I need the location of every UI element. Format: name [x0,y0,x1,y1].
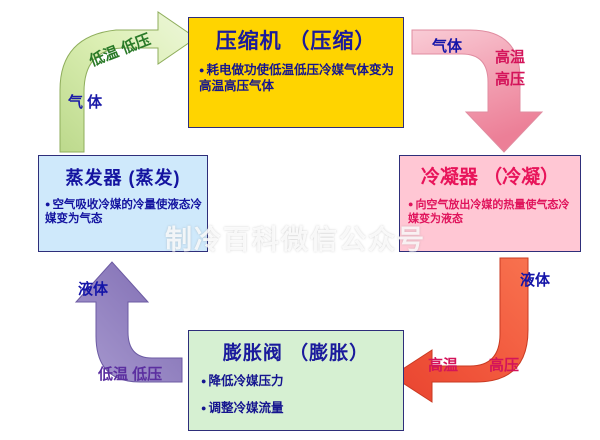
node-evaporator[interactable]: 蒸发器 (蒸发) 空气吸收冷媒的冷量使液态冷媒变为气态 [38,155,208,252]
compressor-title: 压缩机 （压缩） [189,25,403,55]
condenser-bullets: 向空气放出冷媒的热量使气态冷媒变为液态 [400,199,580,227]
expansion-bullets: 降低冷媒压力 调整冷媒流量 [189,374,403,416]
condenser-title: 冷凝器 （冷凝） [400,162,580,189]
evaporator-title: 蒸发器 (蒸发) [39,164,207,190]
evaporator-bullets: 空气吸收冷媒的冷量使液态冷媒变为气态 [39,198,207,227]
expansion-title: 膨胀阀 （膨胀） [189,338,403,365]
condenser-bullet-1: 向空气放出冷媒的热量使气态冷媒变为液态 [408,199,580,227]
node-expansion-valve[interactable]: 膨胀阀 （膨胀） 降低冷媒压力 调整冷媒流量 [188,330,404,431]
label-gas-left: 气 体 [68,94,102,111]
node-condenser[interactable]: 冷凝器 （冷凝） 向空气放出冷媒的热量使气态冷媒变为液态 [399,155,581,252]
arrow-liquid-to-expansion [392,258,528,402]
expansion-bullet-1: 降低冷媒压力 [201,374,403,390]
compressor-bullet-1: 耗电做功使低温低压冷媒气体变为高温高压气体 [199,63,403,94]
diagram-canvas: 压缩机 （压缩） 耗电做功使低温低压冷媒气体变为高温高压气体 冷凝器 （冷凝） … [0,0,600,440]
evaporator-bullet-1: 空气吸收冷媒的冷量使液态冷媒变为气态 [45,198,207,227]
arrow-gas-to-compressor [60,12,196,152]
label-high-pressure-right: 高压 [489,357,519,374]
expansion-bullet-2: 调整冷媒流量 [201,401,403,417]
label-liquid-right: 液体 [520,272,550,289]
label-gas-right: 气体 [432,38,462,55]
arrow-lowpress-to-evaporator [76,262,182,382]
label-liquid-left: 液体 [78,281,108,298]
label-high-temp-high-pressure-right: 高温 高压 [495,47,525,91]
label-high-temp-right: 高温 [428,357,458,374]
compressor-bullets: 耗电做功使低温低压冷媒气体变为高温高压气体 [189,63,403,94]
node-compressor[interactable]: 压缩机 （压缩） 耗电做功使低温低压冷媒气体变为高温高压气体 [188,17,404,128]
label-low-temp-low-pressure-bottom: 低温 低压 [98,366,162,383]
